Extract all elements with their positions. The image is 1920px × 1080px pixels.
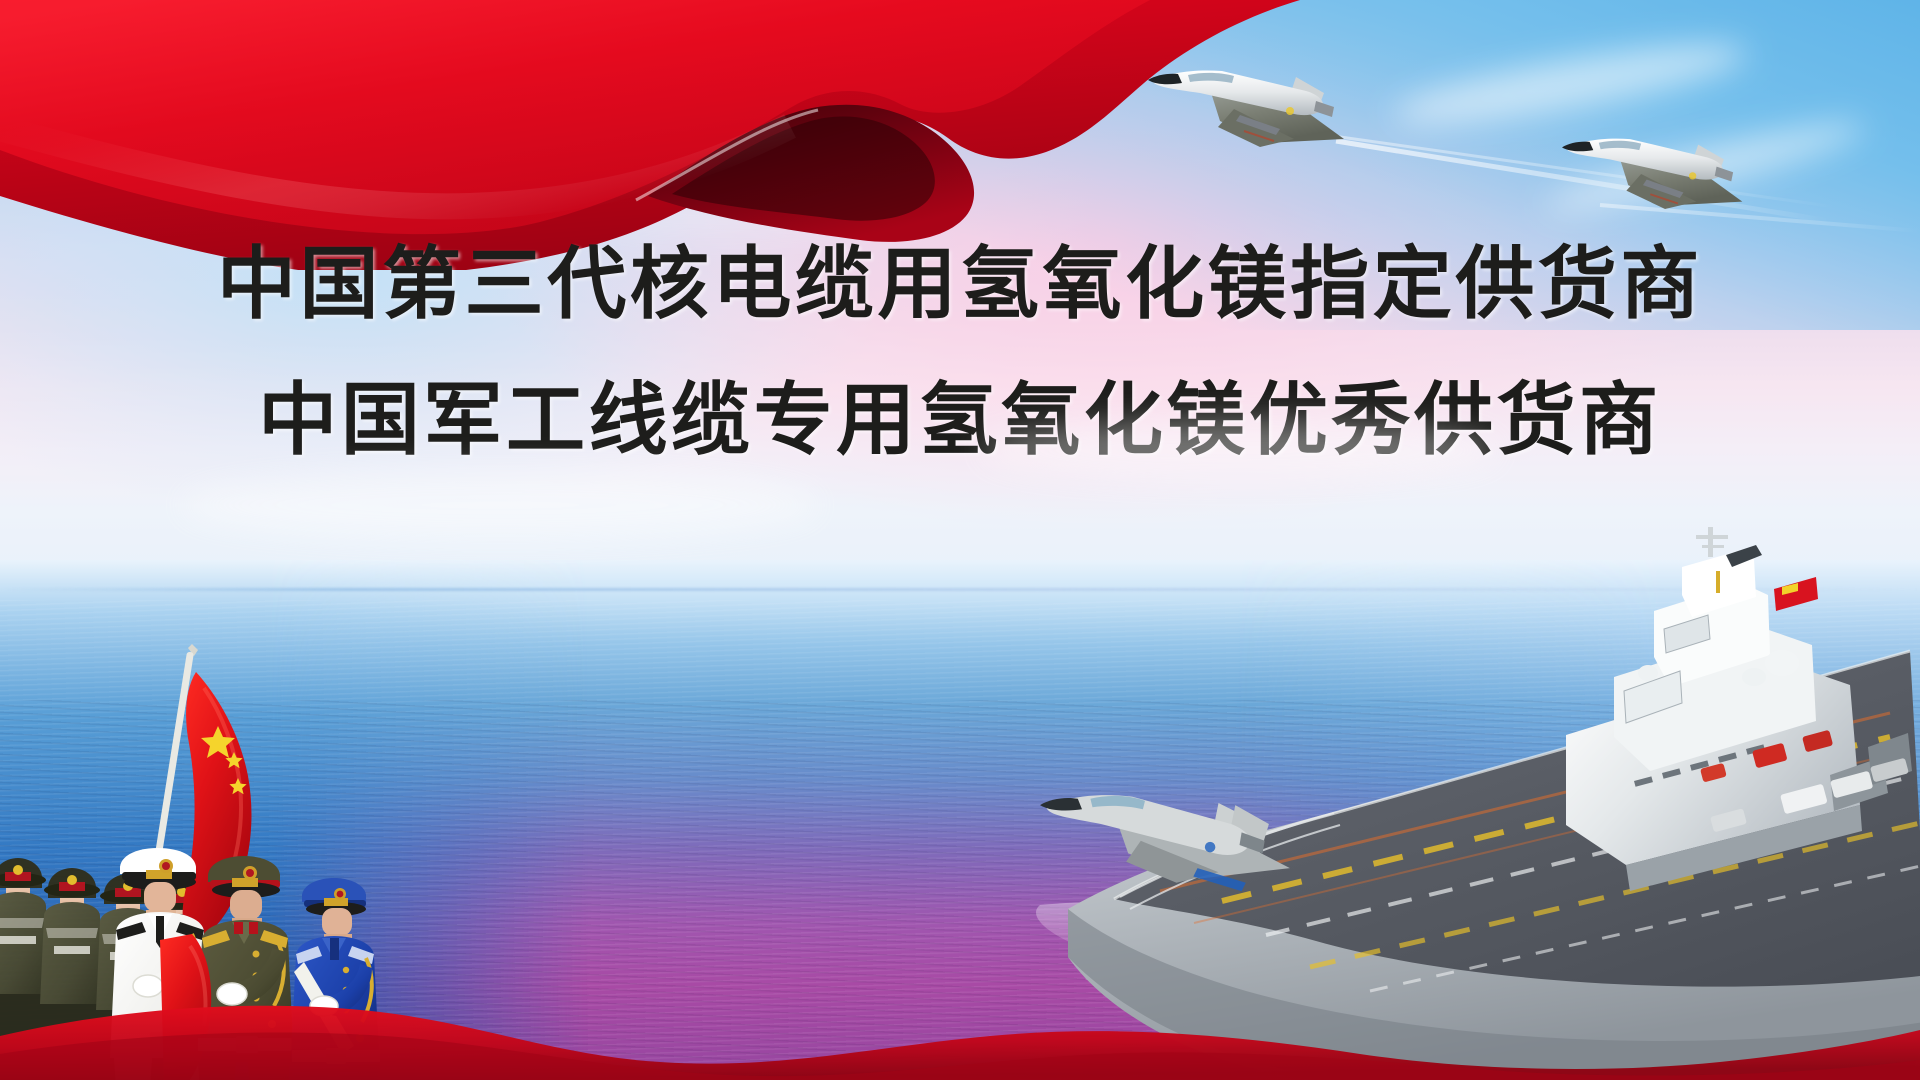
fighter-jet-1 — [1148, 70, 1344, 147]
fighter-jet-2 — [1562, 139, 1742, 209]
fighter-jet-pair — [1130, 25, 1920, 240]
cloud-wisp — [180, 470, 820, 540]
cloud-wisp — [980, 420, 1500, 480]
promotional-banner: 中国第三代核电缆用氢氧化镁指定供货商 中国军工线缆专用氢氧化镁优秀供货商 — [0, 0, 1920, 1080]
bottom-red-wave — [0, 950, 1920, 1080]
waving-red-flag — [0, 0, 1300, 270]
